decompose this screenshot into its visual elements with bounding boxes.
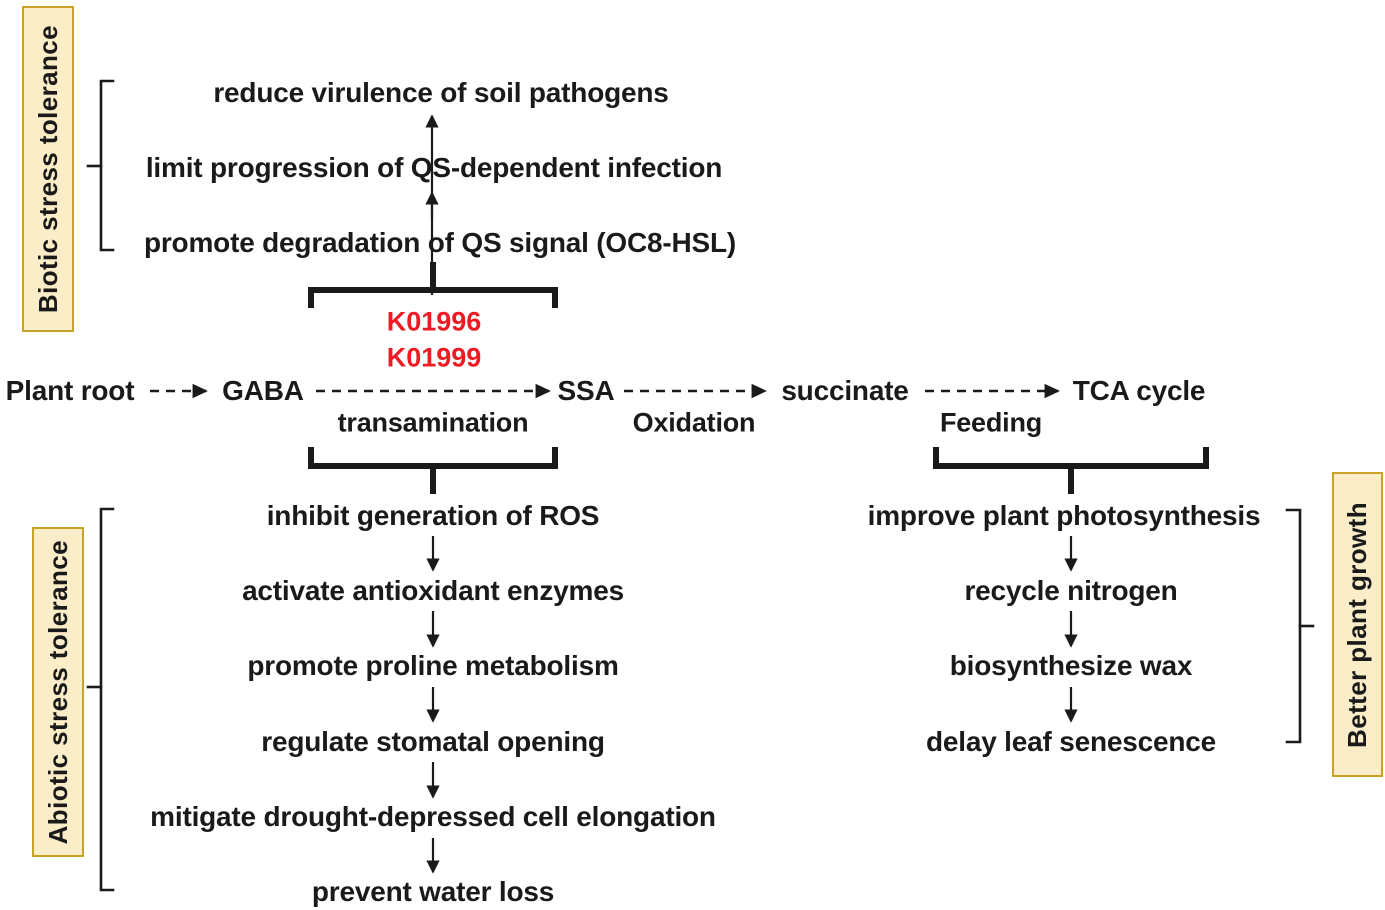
growth-bracket xyxy=(1287,510,1313,742)
pathway-diagram: Biotic stress tolerance Abiotic stress t… xyxy=(0,0,1385,910)
category-label-growth: Better plant growth xyxy=(1342,502,1373,748)
growth-outcome-3: delay leaf senescence xyxy=(926,726,1216,758)
abiotic-outcome-3: regulate stomatal opening xyxy=(261,726,605,758)
pathway-node-plant-root: Plant root xyxy=(6,375,135,407)
biotic-bracket xyxy=(88,81,113,250)
biotic-outcome-1: limit progression of QS-dependent infect… xyxy=(146,152,722,184)
connector-layer xyxy=(0,0,1385,910)
growth-outcome-0: improve plant photosynthesis xyxy=(868,500,1261,532)
pathway-node-tca-cycle: TCA cycle xyxy=(1073,375,1206,407)
category-box-growth: Better plant growth xyxy=(1332,472,1383,777)
top-brace xyxy=(311,262,555,308)
abiotic-outcome-0: inhibit generation of ROS xyxy=(267,500,600,532)
abiotic-outcome-2: promote proline metabolism xyxy=(247,650,618,682)
category-box-abiotic: Abiotic stress tolerance xyxy=(32,527,84,857)
edge-label-feeding: Feeding xyxy=(940,408,1042,439)
pathway-node-ssa: SSA xyxy=(558,375,615,407)
abiotic-outcome-4: mitigate drought-depressed cell elongati… xyxy=(150,801,716,833)
growth-outcome-2: biosynthesize wax xyxy=(950,650,1192,682)
edge-label-transamination: transamination xyxy=(338,408,529,439)
pathway-node-succinate: succinate xyxy=(781,375,908,407)
abiotic-outcome-5: prevent water loss xyxy=(312,876,554,908)
bottom-brace-right xyxy=(936,447,1206,494)
edge-label-oxidation: Oxidation xyxy=(633,408,756,439)
category-box-biotic: Biotic stress tolerance xyxy=(22,6,74,332)
abiotic-bracket xyxy=(88,509,113,890)
category-label-abiotic: Abiotic stress tolerance xyxy=(43,540,74,844)
category-label-biotic: Biotic stress tolerance xyxy=(33,25,64,313)
growth-outcome-1: recycle nitrogen xyxy=(964,575,1177,607)
biotic-outcome-2: promote degradation of QS signal (OC8-HS… xyxy=(144,227,736,259)
bottom-brace-left xyxy=(311,447,555,494)
pathway-node-gaba: GABA xyxy=(222,375,304,407)
enzyme-code-k01999: K01999 xyxy=(387,343,482,374)
biotic-outcome-0: reduce virulence of soil pathogens xyxy=(213,77,668,109)
abiotic-outcome-1: activate antioxidant enzymes xyxy=(242,575,624,607)
enzyme-code-k01996: K01996 xyxy=(387,307,482,338)
